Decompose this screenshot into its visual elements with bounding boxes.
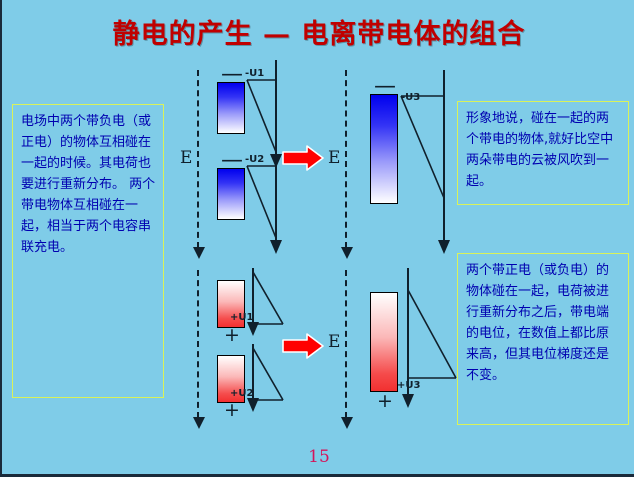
charged-bar-positive-combined [370,292,398,392]
charged-bar-negative-1 [217,82,245,134]
arrowhead-icon [193,417,205,429]
potential-diagram-positive-1 [247,268,297,338]
potential-label-pos-2: +U2 [230,388,253,399]
potential-diagram-positive-combined [400,268,470,418]
efield-label-right-top: E [328,148,340,168]
minus-sign-icon-2: — [221,150,243,172]
arrowhead-icon [193,247,205,259]
efield-label-left-top: E [180,148,192,168]
potential-label-pos-3: +U3 [397,380,420,391]
page-number: 15 [2,447,634,467]
charged-bar-negative-combined [370,94,398,204]
potential-label-neg-1: -U1 [245,68,264,79]
plus-sign-icon-2: + [224,401,240,420]
potential-label-neg-3: -U3 [401,92,420,103]
efield-arrow-top-left [197,70,200,248]
potential-label-neg-2: -U2 [245,154,264,165]
minus-sign-icon-1: — [221,64,243,86]
arrowhead-icon [341,247,353,259]
plus-sign-icon-3: + [377,392,393,411]
slide-canvas: 静电的产生 — 电离带电体的组合 电场中两个带负电（或正电）的物体互相碰在一起的… [0,0,634,477]
efield-arrow-top-right [345,70,348,248]
textbox-bottom-right: 两个带正电（或负电）的物体碰在一起，电荷被进行重新分布之后，带电端的电位，在数值… [457,253,629,425]
plus-sign-icon-1: + [224,326,240,345]
efield-arrow-bottom-right [345,270,348,418]
textbox-top-right: 形象地说，碰在一起的两个带电的物体,就好比空中两朵带电的云被风吹到一起。 [457,101,629,205]
charged-bar-negative-2 [217,168,245,220]
page-title: 静电的产生 — 电离带电体的组合 [2,12,634,51]
process-arrow-top-icon [282,145,324,176]
efield-label-right-bottom: E [328,332,340,352]
minus-sign-icon-3: — [374,76,396,98]
efield-arrow-bottom-left [197,270,200,418]
potential-label-pos-1: +U1 [230,312,253,323]
textbox-left: 电场中两个带负电（或正电）的物体互相碰在一起的时候。其电荷也要进行重新分布。 两… [12,104,164,398]
arrowhead-icon [341,417,353,429]
process-arrow-bottom-icon [282,333,324,364]
